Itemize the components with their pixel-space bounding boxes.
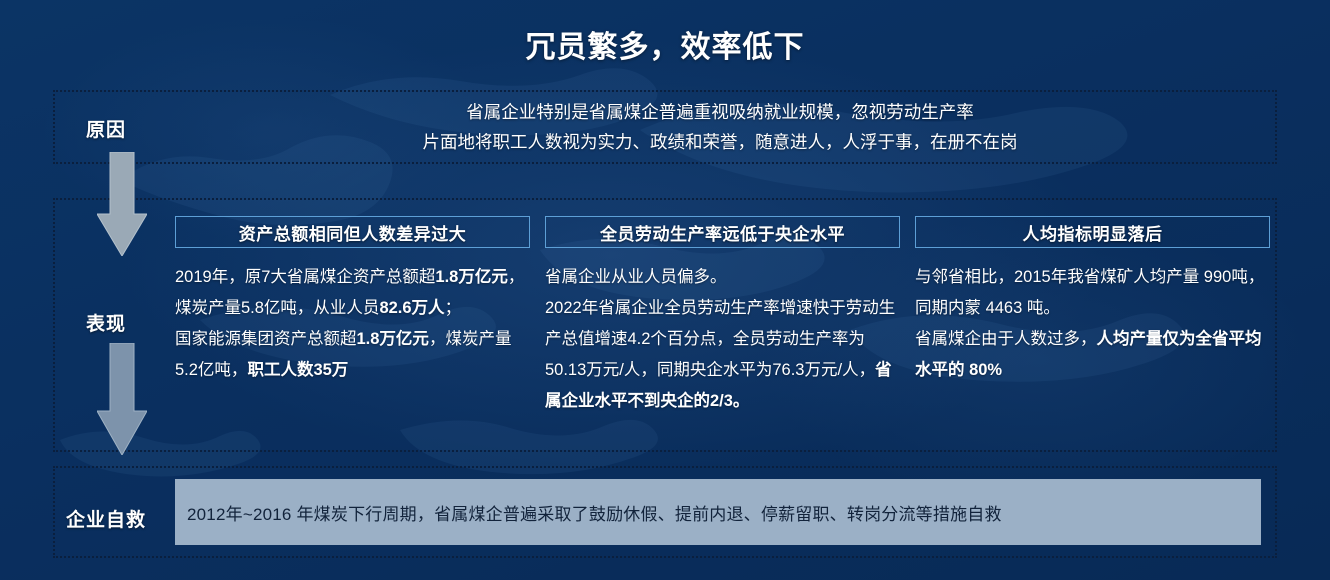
performance-column: 人均指标明显落后 与邻省相比，2015年我省煤矿人均产量 990吨，同期内蒙 4… (915, 216, 1270, 386)
column-paragraph: 与邻省相比，2015年我省煤矿人均产量 990吨，同期内蒙 4463 吨。 (915, 262, 1270, 324)
arrow-down-icon (97, 152, 147, 256)
column-body: 2019年，原7大省属煤企资产总额超1.8万亿元，煤炭产量5.8亿吨，从业人员8… (175, 262, 530, 386)
column-paragraph: 2019年，原7大省属煤企资产总额超1.8万亿元，煤炭产量5.8亿吨，从业人员8… (175, 262, 530, 324)
column-paragraph: 省属煤企由于人数过多，人均产量仅为全省平均水平的 80% (915, 324, 1270, 386)
column-paragraph: 国家能源集团资产总额超1.8万亿元，煤炭产量5.2亿吨，职工人数35万 (175, 324, 530, 386)
performance-column: 资产总额相同但人数差异过大 2019年，原7大省属煤企资产总额超1.8万亿元，煤… (175, 216, 530, 386)
column-header: 人均指标明显落后 (915, 216, 1270, 248)
reason-text: 省属企业特别是省属煤企普遍重视吸纳就业规模，忽视劳动生产率 片面地将职工人数视为… (180, 97, 1260, 157)
column-header: 全员劳动生产率远低于央企水平 (545, 216, 900, 248)
arrow-down-icon (97, 343, 147, 455)
column-paragraph: 省属企业从业人员偏多。 (545, 262, 900, 293)
rail-label-performance: 表现 (86, 309, 126, 336)
rescue-bar: 2012年~2016 年煤炭下行周期，省属煤企普遍采取了鼓励休假、提前内退、停薪… (175, 479, 1261, 545)
rescue-text: 2012年~2016 年煤炭下行周期，省属煤企普遍采取了鼓励休假、提前内退、停薪… (187, 500, 1002, 525)
performance-column: 全员劳动生产率远低于央企水平 省属企业从业人员偏多。2022年省属企业全员劳动生… (545, 216, 900, 417)
column-paragraph: 2022年省属企业全员劳动生产率增速快于劳动生产总值增速4.2个百分点，全员劳动… (545, 293, 900, 417)
page-title: 冗员繁多，效率低下 (0, 22, 1330, 66)
rail-label-reason: 原因 (86, 115, 126, 142)
reason-line-2: 片面地将职工人数视为实力、政绩和荣誉，随意进人，人浮于事，在册不在岗 (180, 127, 1260, 157)
column-body: 与邻省相比，2015年我省煤矿人均产量 990吨，同期内蒙 4463 吨。省属煤… (915, 262, 1270, 386)
reason-line-1: 省属企业特别是省属煤企普遍重视吸纳就业规模，忽视劳动生产率 (180, 97, 1260, 127)
column-header: 资产总额相同但人数差异过大 (175, 216, 530, 248)
column-body: 省属企业从业人员偏多。2022年省属企业全员劳动生产率增速快于劳动生产总值增速4… (545, 262, 900, 417)
rail-label-rescue: 企业自救 (66, 505, 146, 532)
